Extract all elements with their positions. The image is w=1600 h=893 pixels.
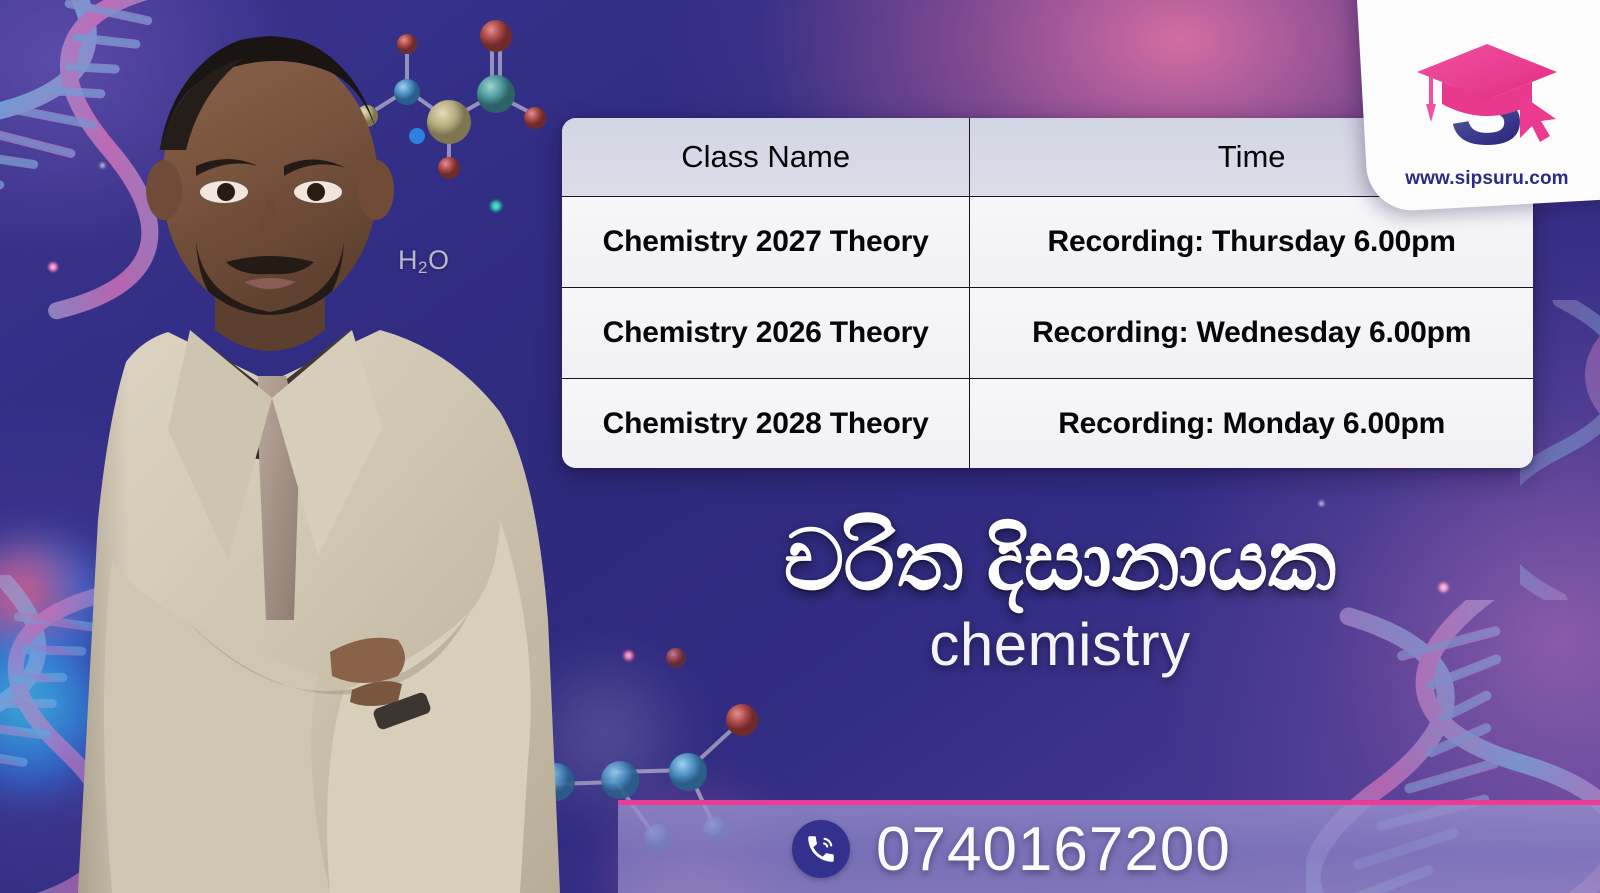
cursor-arrow-icon [1520, 94, 1556, 142]
poster-canvas: H2O [0, 0, 1600, 893]
sipsuru-logo-card[interactable]: S www.sipsuru.com [1355, 0, 1600, 213]
cell-time: Recording: Wednesday 6.00pm [970, 287, 1533, 378]
table-row: Chemistry 2027 Theory Recording: Thursda… [562, 196, 1533, 287]
teacher-subject: chemistry [600, 610, 1520, 679]
teacher-portrait [0, 0, 600, 893]
sparkle-dot [1318, 500, 1325, 507]
cell-class-name: Chemistry 2028 Theory [562, 378, 970, 468]
teacher-name-sinhala: චරිත දිසානායක [600, 516, 1520, 606]
cell-class-name: Chemistry 2026 Theory [562, 287, 970, 378]
cell-time: Recording: Thursday 6.00pm [970, 196, 1533, 287]
table-row: Chemistry 2026 Theory Recording: Wednesd… [562, 287, 1533, 378]
column-header-class-name: Class Name [562, 118, 970, 196]
cell-time: Recording: Monday 6.00pm [970, 378, 1533, 468]
logo-website-url[interactable]: www.sipsuru.com [1405, 168, 1568, 190]
contact-bar: 0740167200 [618, 800, 1600, 893]
cell-class-name: Chemistry 2027 Theory [562, 196, 970, 287]
phone-ringing-icon [792, 820, 850, 878]
logo-mark: S [1412, 38, 1562, 166]
teacher-name-block: චරිත දිසානායක chemistry [600, 516, 1520, 679]
table-row: Chemistry 2028 Theory Recording: Monday … [562, 378, 1533, 468]
contact-phone-number[interactable]: 0740167200 [876, 814, 1231, 885]
